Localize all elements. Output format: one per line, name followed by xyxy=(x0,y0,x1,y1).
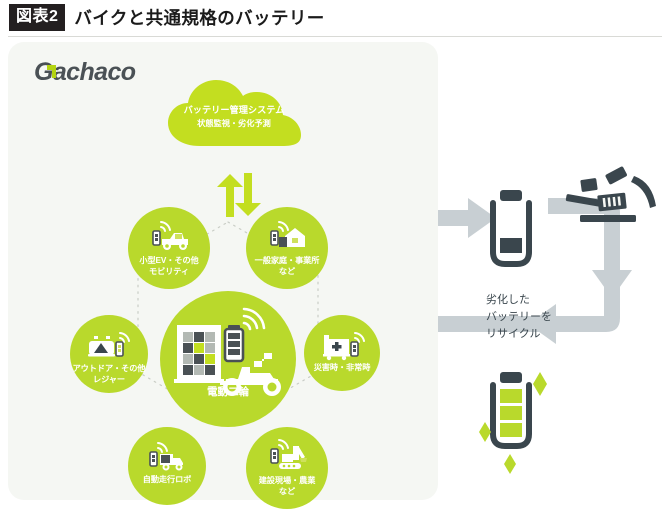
logo-letter-g: G xyxy=(34,58,53,87)
recycle-flow: 劣化した バッテリーを リサイクル xyxy=(438,42,670,500)
node-outdoor-label-line1: アウトドア・その他 xyxy=(70,363,148,374)
charged-battery-icon xyxy=(493,372,529,446)
node-household-label-line2: など xyxy=(246,266,328,277)
hub-electric-two-wheeler[interactable]: 電動二輪 xyxy=(160,291,296,427)
connected-battery-icon xyxy=(225,325,243,361)
node-construction-label-line2: など xyxy=(246,486,328,497)
ecosystem-panel: G achaco バッテリー管理システム 状態監視・劣化予測 xyxy=(8,42,438,500)
cloud-label-line2: 状態監視・劣化予測 xyxy=(160,117,308,129)
node-outdoor[interactable]: アウトドア・その他 レジャー xyxy=(70,315,148,393)
node-construction-label-line1: 建設現場・農業 xyxy=(246,475,328,486)
node-small-ev-label-line2: モビリティ xyxy=(128,266,210,277)
excavator-icon xyxy=(266,438,310,474)
node-disaster[interactable]: 災害時・非常時 xyxy=(304,315,380,391)
node-autonomous-robot[interactable]: 自動走行ロボ xyxy=(128,427,206,505)
node-household[interactable]: 一般家庭・事業所 など xyxy=(246,207,328,289)
logo-wordmark: achaco xyxy=(53,58,136,87)
node-autonomous-robot-label-line1: 自動走行ロボ xyxy=(128,474,206,485)
figure-root: 図表2 バイクと共通規格のバッテリー G achaco バッテリー管理システム … xyxy=(0,0,670,510)
figure-number-badge: 図表2 xyxy=(9,4,65,31)
hub-label: 電動二輪 xyxy=(160,384,296,399)
depleted-battery-icon xyxy=(493,190,529,264)
recycle-caption-line1: 劣化した xyxy=(486,292,596,309)
gachaco-logo: G achaco xyxy=(34,58,135,87)
node-household-label-line1: 一般家庭・事業所 xyxy=(246,255,328,266)
delivery-robot-icon xyxy=(145,441,189,473)
emergency-cart-icon xyxy=(319,329,365,361)
node-construction[interactable]: 建設現場・農業 など xyxy=(246,427,328,509)
node-small-ev[interactable]: 小型EV・その他 モビリティ xyxy=(128,207,210,289)
node-disaster-label-line1: 災害時・非常時 xyxy=(304,362,380,373)
arrow-right-to-recycle-icon xyxy=(438,198,496,238)
recycle-caption-line3: リサイクル xyxy=(486,326,596,343)
battery-management-cloud: バッテリー管理システム 状態監視・劣化予測 xyxy=(160,74,308,154)
recycle-caption: 劣化した バッテリーを リサイクル xyxy=(486,292,596,343)
page-title: バイクと共通規格のバッテリー xyxy=(74,5,324,30)
cloud-label-line1: バッテリー管理システム xyxy=(160,102,308,116)
bidirectional-data-arrows-icon xyxy=(204,173,274,217)
node-small-ev-label-line1: 小型EV・その他 xyxy=(128,255,210,266)
small-ev-car-icon xyxy=(148,219,192,253)
wifi-signal-icon xyxy=(244,309,264,329)
hub-icon-group xyxy=(160,291,296,427)
title-divider xyxy=(8,36,662,37)
figure-header: 図表2 バイクと共通規格のバッテリー xyxy=(0,0,670,34)
battery-swap-station-icon xyxy=(174,325,224,383)
house-icon xyxy=(265,219,309,253)
recycle-flow-graphics xyxy=(438,42,670,500)
node-outdoor-label-line2: レジャー xyxy=(70,374,148,385)
camping-tent-icon xyxy=(84,329,132,361)
recycle-caption-line2: バッテリーを xyxy=(486,309,596,326)
